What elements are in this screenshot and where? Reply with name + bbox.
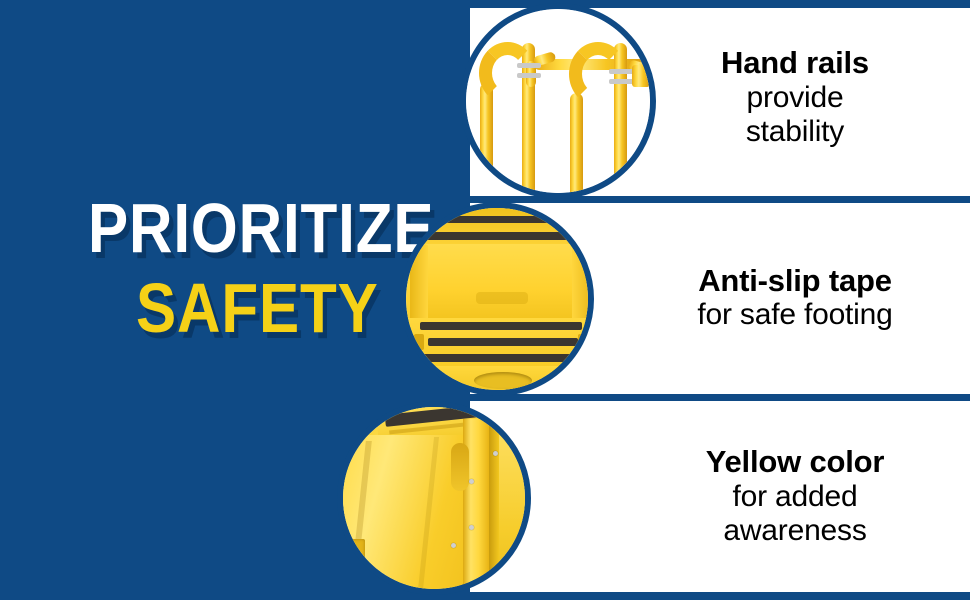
- closeup-rivet-4: [451, 543, 456, 548]
- feature-title-hand-rails: Hand rails: [695, 46, 895, 81]
- feature-text-hand-rails: Hand rails provide stability: [545, 46, 895, 150]
- feature-row-yellow-color: Yellow color for added awareness: [470, 401, 970, 593]
- headline: PRIORITIZE SAFETY: [88, 196, 418, 342]
- feature-subtitle-hand-rails: provide stability: [695, 81, 895, 151]
- bottom-navy-bar: [0, 592, 970, 600]
- step-tab-left: [414, 334, 424, 350]
- feature-text-yellow-color: Yellow color for added awareness: [545, 445, 895, 549]
- feature-row-hand-rails: Hand rails provide stability: [470, 0, 970, 196]
- feature-title-yellow-color: Yellow color: [695, 445, 895, 480]
- headline-line-safety: SAFETY: [136, 276, 379, 342]
- closeup-rail-slot: [451, 443, 469, 491]
- closeup-lower-fitting: [349, 539, 365, 561]
- feature-title-anti-slip-tape: Anti-slip tape: [695, 264, 895, 299]
- feature-subtitle-yellow-color: for added awareness: [695, 480, 895, 550]
- feature-row-anti-slip-tape: Anti-slip tape for safe footing: [470, 203, 970, 394]
- safety-feature-banner: PRIORITIZE SAFETY: [0, 0, 970, 600]
- feature-text-anti-slip-tape: Anti-slip tape for safe footing: [545, 264, 895, 334]
- headline-line-prioritize: PRIORITIZE: [88, 196, 372, 262]
- feature-subtitle-anti-slip-tape: for safe footing: [695, 298, 895, 333]
